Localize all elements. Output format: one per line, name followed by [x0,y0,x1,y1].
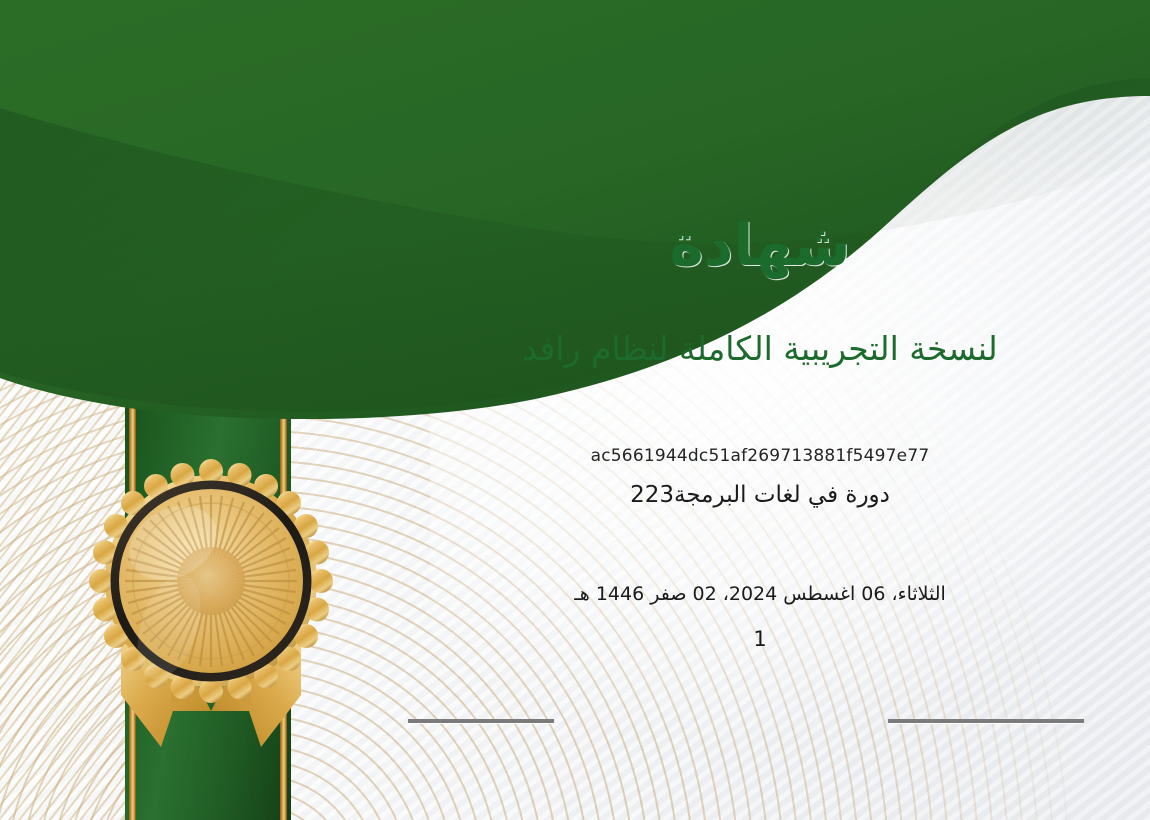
certificate-page: شهادة لنسخة التجريبية الكاملة لنظام رافد… [0,0,1150,820]
signature-line-right [888,719,1084,723]
gold-rosette-medal-icon [65,443,357,763]
certificate-subtitle: لنسخة التجريبية الكاملة لنظام رافد [370,328,1150,371]
issue-date: الثلاثاء، 06 اغسطس 2024، 02 صفر 1446 هـ [370,583,1150,605]
signature-line-left [408,719,554,723]
certificate-hash: ac5661944dc51af269713881f5497e77 [370,446,1150,466]
certificate-content: شهادة لنسخة التجريبية الكاملة لنظام رافد… [370,0,1150,820]
serial-number: 1 [370,627,1150,651]
course-name: دورة في لغات البرمجة223 [370,480,1150,511]
page-title: شهادة [370,214,1150,278]
